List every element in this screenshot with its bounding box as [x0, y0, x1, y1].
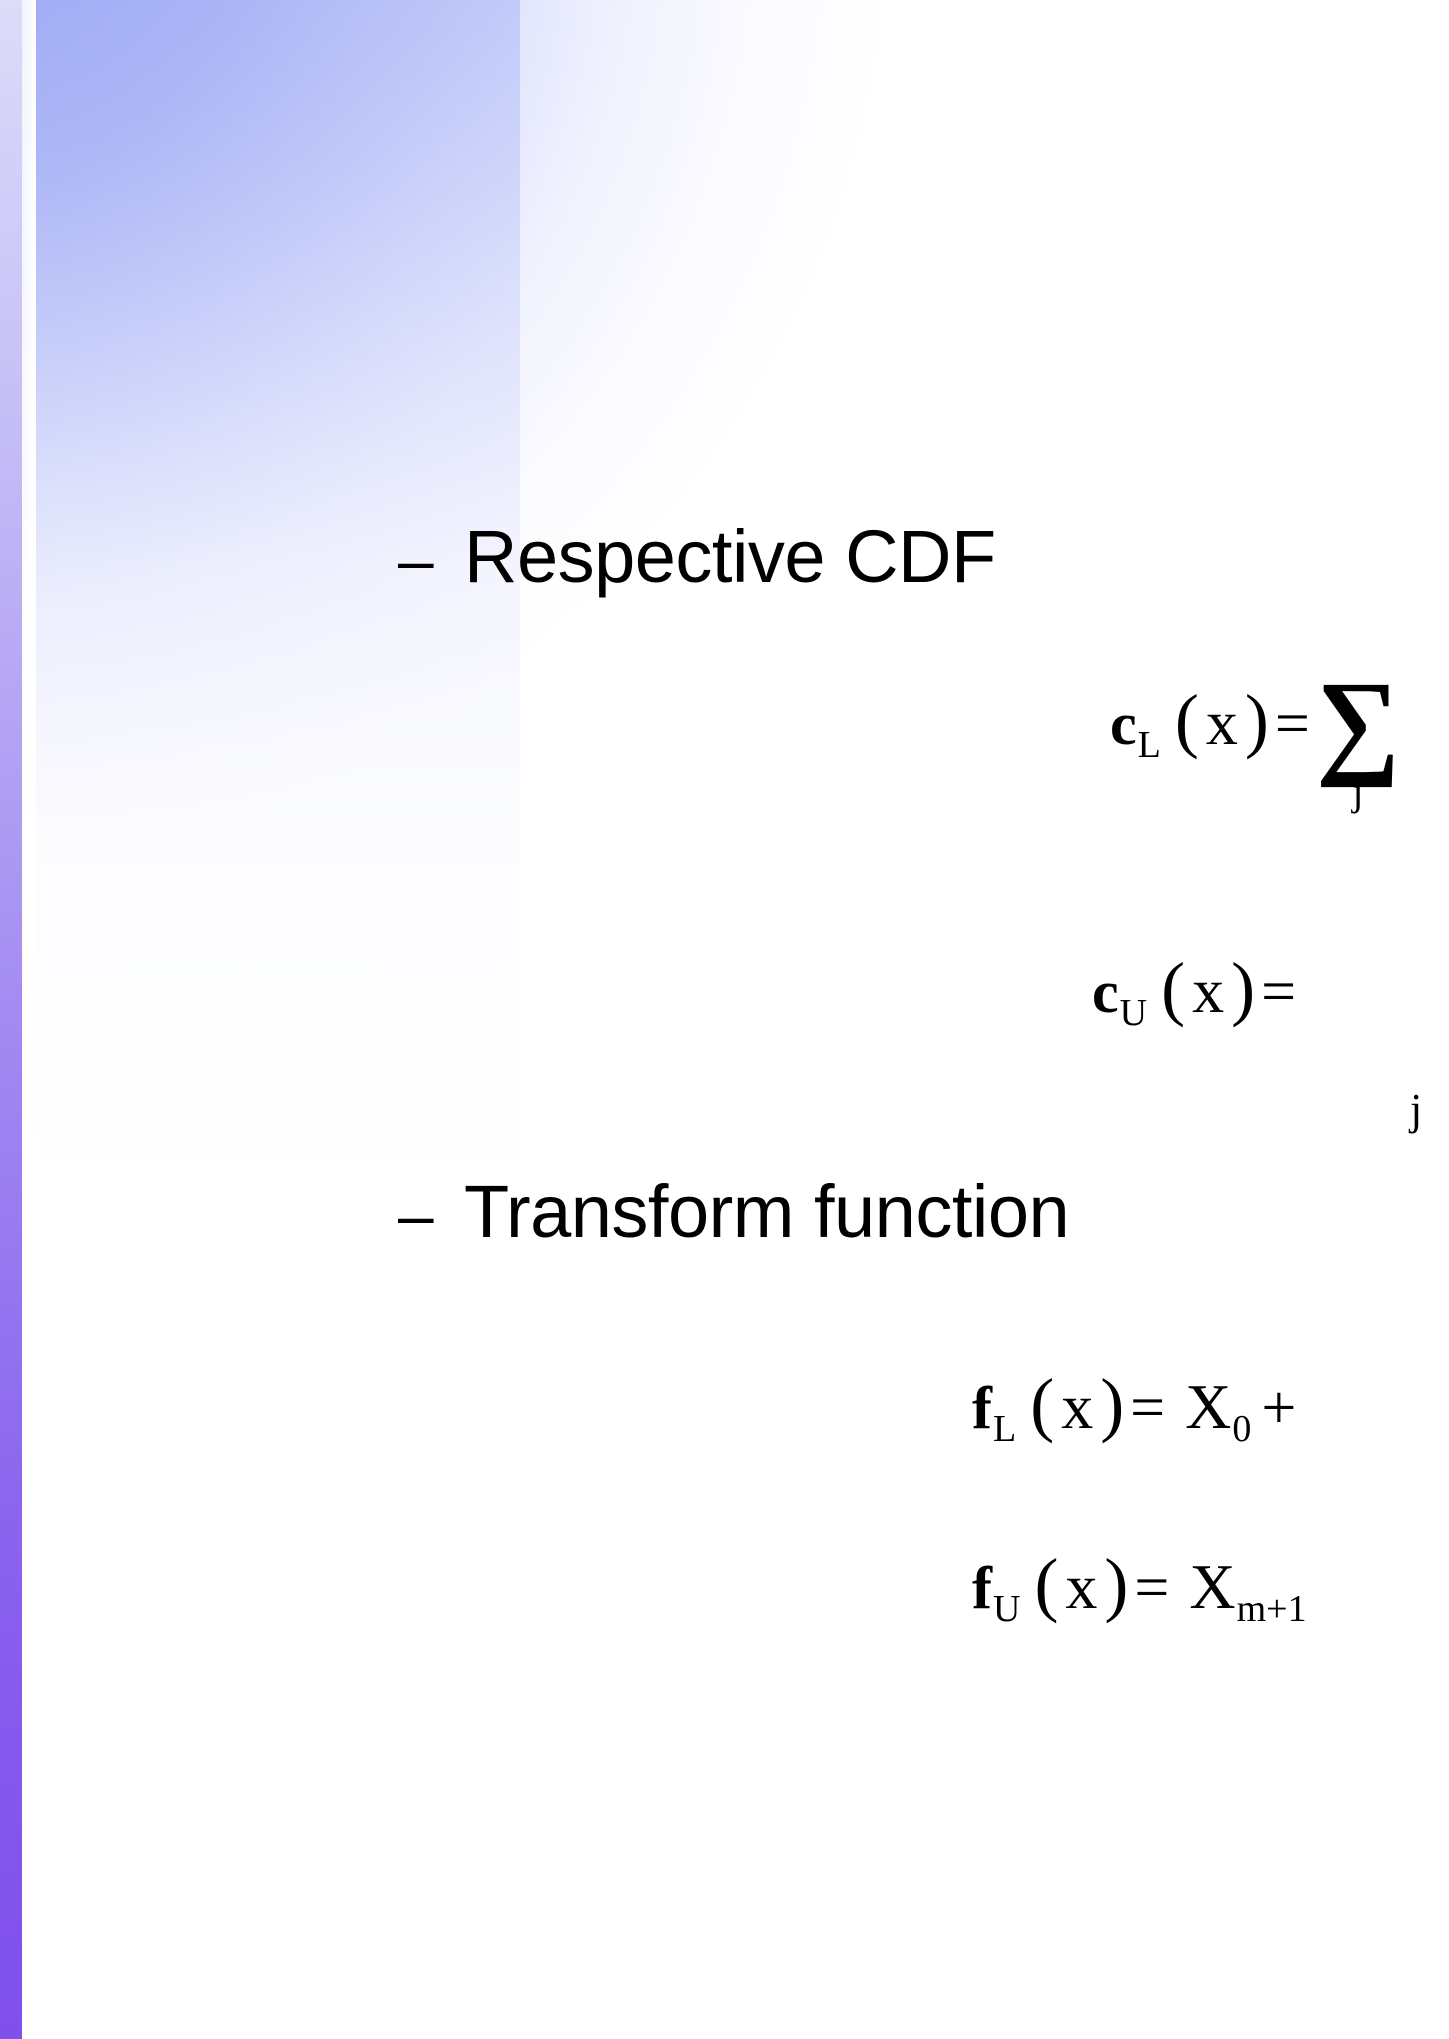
formula-transform-upper-equals: = — [1128, 1554, 1175, 1622]
bullet-label-transform-function: Transform function — [464, 1175, 1069, 1249]
summation-sigma-icon: ∑ — [1316, 676, 1400, 770]
formula-transform-upper-argument: x — [1065, 1551, 1097, 1622]
formula-transform-upper-rhs-variable: X — [1189, 1551, 1235, 1622]
formula-cdf-upper-equals: = — [1255, 958, 1302, 1026]
bullet-item-respective-cdf: – Respective CDF — [398, 520, 996, 594]
formula-transform-lower-rhs-subscript: 0 — [1231, 1408, 1251, 1450]
formula-transform-upper-function-subscript: U — [992, 1588, 1020, 1630]
formula-cdf-lower-open-paren: ( — [1175, 680, 1199, 760]
presentation-slide: – Respective CDF cL(x)=∑j cU(x)= j – Tra… — [0, 0, 1449, 2039]
slide-content: – Respective CDF cL(x)=∑j cU(x)= j – Tra… — [0, 0, 1449, 2039]
formula-transform-lower-function-subscript: L — [992, 1408, 1016, 1450]
formula-transform-lower-function: f — [972, 1375, 992, 1441]
formula-cdf-lower: cL(x)=∑j — [1110, 672, 1400, 808]
formula-cdf-lower-function-subscript: L — [1137, 724, 1161, 766]
formula-transform-upper: fU(x)=Xm+1 — [972, 1548, 1307, 1628]
formula-transform-lower-close-paren: ) — [1100, 1364, 1124, 1444]
formula-cdf-upper-open-paren: ( — [1161, 948, 1185, 1028]
bullet-item-transform-function: – Transform function — [398, 1175, 1069, 1249]
formula-cdf-lower-summation: ∑j — [1316, 676, 1400, 812]
formula-cdf-upper-function: c — [1092, 959, 1119, 1025]
formula-transform-upper-function: f — [972, 1555, 992, 1621]
formula-cdf-upper: cU(x)= — [1092, 952, 1302, 1032]
formula-transform-upper-rhs-subscript: m+1 — [1236, 1588, 1307, 1630]
formula-cdf-lower-argument: x — [1206, 687, 1238, 758]
formula-transform-upper-close-paren: ) — [1104, 1544, 1128, 1624]
formula-cdf-lower-function: c — [1110, 691, 1137, 757]
formula-transform-upper-open-paren: ( — [1034, 1544, 1058, 1624]
formula-cdf-upper-function-subscript: U — [1119, 992, 1147, 1034]
formula-transform-lower-rhs-variable: X — [1185, 1371, 1231, 1442]
formula-cdf-upper-close-paren: ) — [1231, 948, 1255, 1028]
formula-cdf-upper-argument: x — [1192, 955, 1224, 1026]
bullet-dash-icon: – — [398, 528, 464, 592]
formula-cdf-lower-close-paren: ) — [1245, 680, 1269, 760]
formula-cdf-upper-summation-lower-limit: j — [1410, 1088, 1422, 1132]
formula-transform-lower-plus: + — [1251, 1374, 1296, 1442]
formula-transform-lower: fL(x)=X0+ — [972, 1368, 1296, 1448]
formula-cdf-lower-equals: = — [1269, 690, 1316, 758]
bullet-dash-icon-2: – — [398, 1183, 464, 1247]
formula-transform-lower-argument: x — [1061, 1371, 1093, 1442]
summation-lower-limit-glyph: j — [1410, 1085, 1422, 1134]
bullet-label-respective-cdf: Respective CDF — [464, 520, 996, 594]
formula-transform-lower-open-paren: ( — [1030, 1364, 1054, 1444]
formula-transform-lower-equals: = — [1124, 1374, 1171, 1442]
